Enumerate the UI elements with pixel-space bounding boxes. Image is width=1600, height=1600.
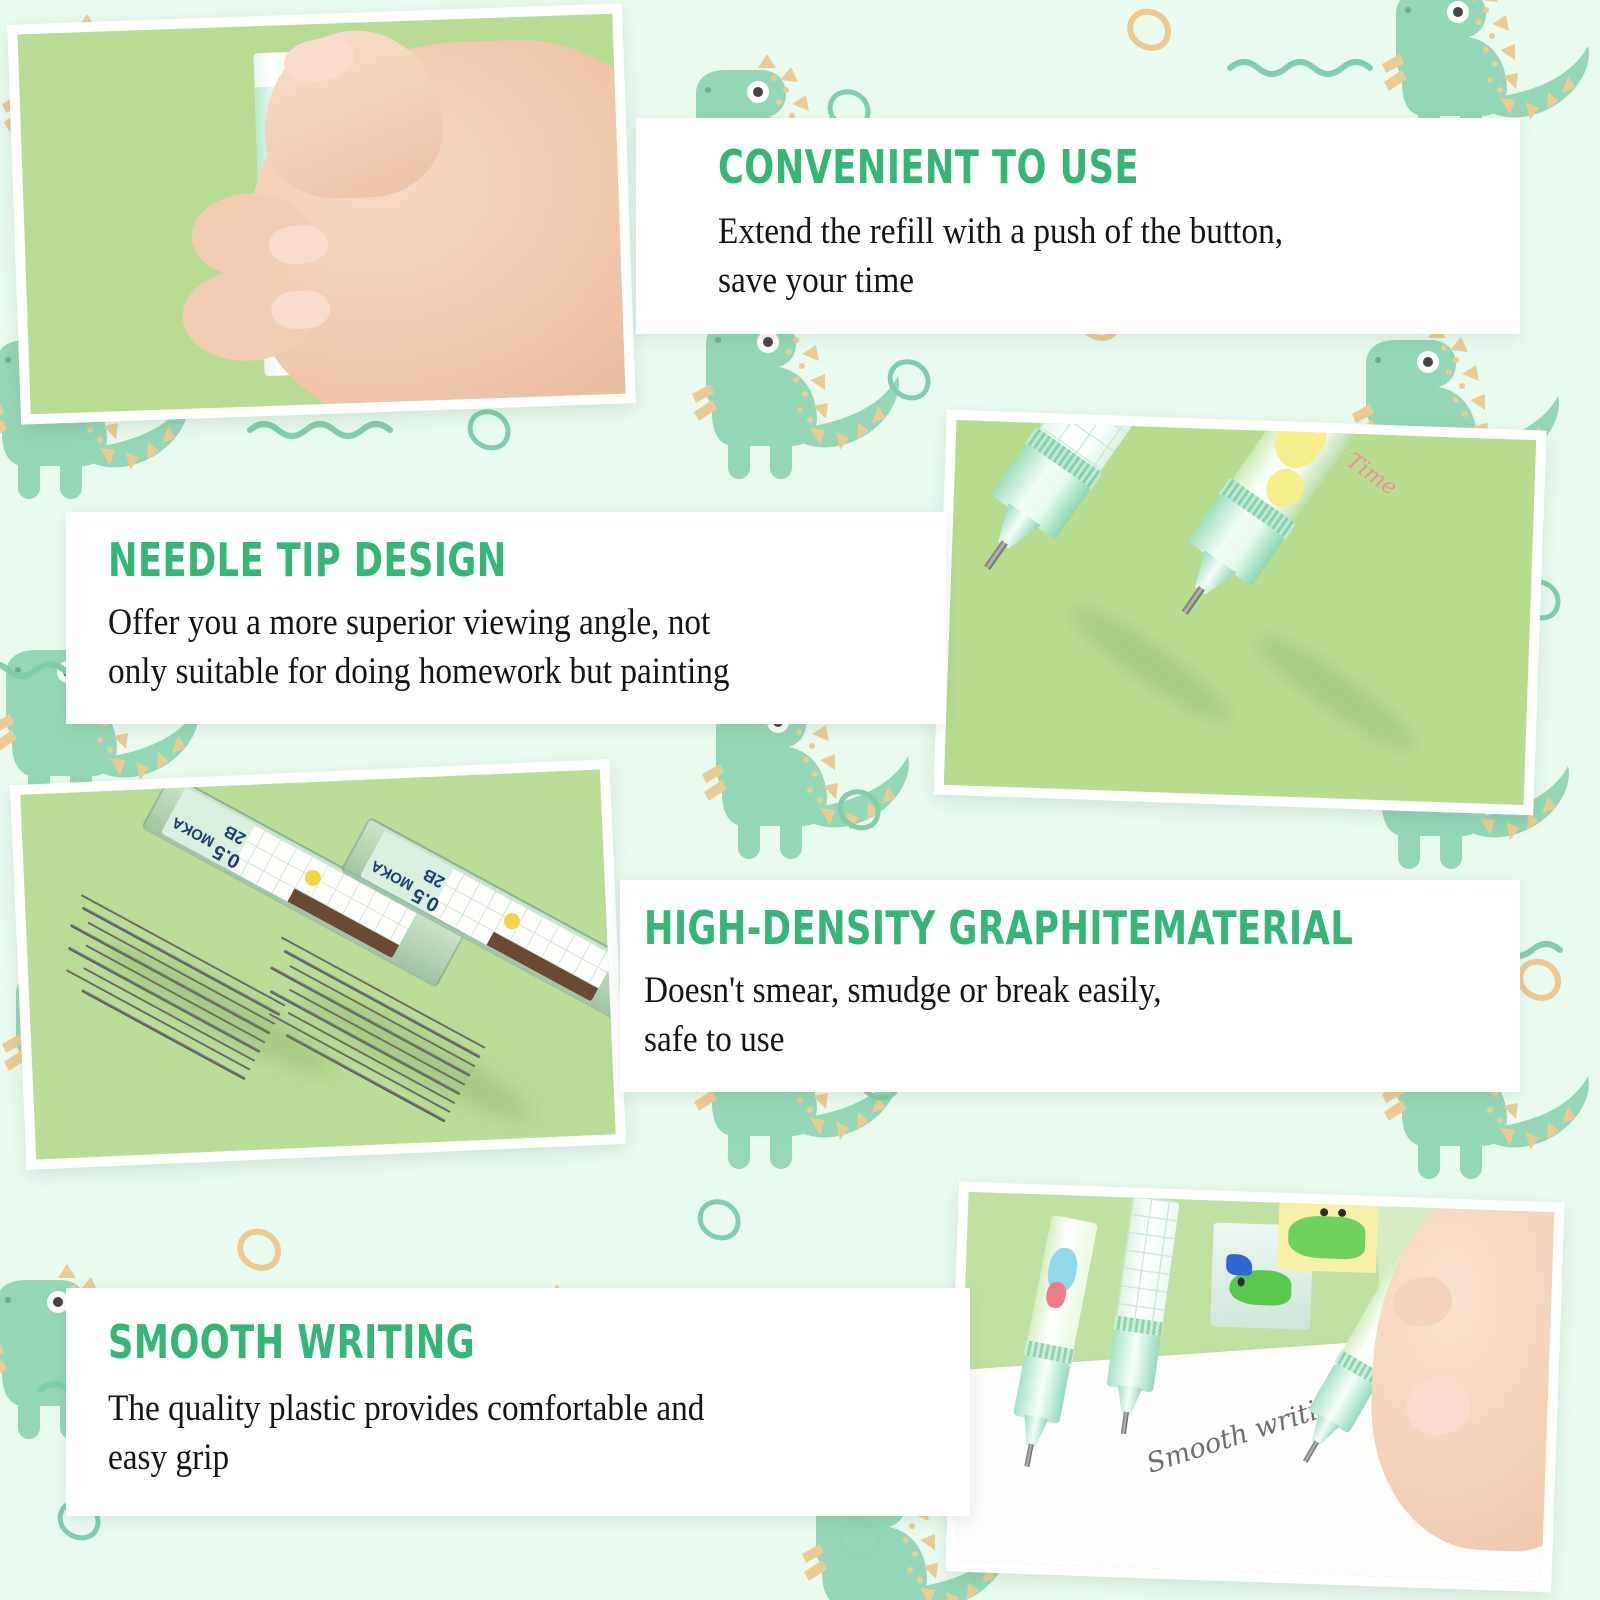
photo-writing-demo: Smooth writing bbox=[956, 1192, 1555, 1582]
photo-card-lead-refills: MOKA 2B 0.5 bbox=[10, 759, 626, 1170]
photo-card-needle-tips: Sweet Time bbox=[933, 410, 1546, 816]
feature-body-line: save your time bbox=[718, 257, 1440, 306]
pencil-clear-barrel bbox=[1106, 1329, 1161, 1392]
feature-body-line: safe to use bbox=[644, 1016, 1432, 1065]
needle-tip bbox=[1121, 1412, 1129, 1434]
barrel-grid-print bbox=[1116, 1196, 1180, 1324]
feature-card-smooth-writing: SMOOTH WRITING The quality plastic provi… bbox=[66, 1288, 970, 1516]
pencil-shadow bbox=[1245, 621, 1427, 764]
feature-heading: CONVENIENT TO USE bbox=[718, 144, 1408, 191]
feature-body-line: The quality plastic provides comfortable… bbox=[108, 1385, 884, 1434]
photo-hand-holding-pencil bbox=[18, 14, 626, 415]
feature-body-line: only suitable for doing homework but pai… bbox=[108, 648, 862, 697]
photo-card-writing-demo: Smooth writing bbox=[945, 1182, 1564, 1593]
eraser-box bbox=[1277, 1192, 1380, 1273]
photo-card-hand-holding-pencil bbox=[7, 3, 636, 424]
feature-card-convenient-to-use: CONVENIENT TO USE Extend the refill with… bbox=[636, 118, 1520, 334]
needle-tip bbox=[984, 540, 1008, 570]
feature-heading: HIGH-DENSITY GRAPHITEMATERIAL bbox=[644, 905, 1397, 952]
needle-tip bbox=[1025, 1444, 1034, 1467]
feature-card-high-density-graphite-material: HIGH-DENSITY GRAPHITEMATERIAL Doesn't sm… bbox=[620, 880, 1520, 1092]
feature-body-line: easy grip bbox=[108, 1434, 884, 1483]
feature-heading: SMOOTH WRITING bbox=[108, 1319, 849, 1366]
pencil-cone bbox=[1019, 1415, 1049, 1449]
needle-tip bbox=[1303, 1441, 1319, 1463]
feature-heading: NEEDLE TIP DESIGN bbox=[108, 537, 829, 584]
feature-body-line: Offer you a more superior viewing angle,… bbox=[108, 599, 862, 648]
needle-tip bbox=[1181, 587, 1204, 616]
box-dino-eye bbox=[1338, 1209, 1346, 1217]
feature-card-needle-tip-design: NEEDLE TIP DESIGN Offer you a more super… bbox=[66, 512, 946, 724]
photo-needle-tips: Sweet Time bbox=[944, 420, 1536, 805]
pencil-sweet-time bbox=[962, 420, 1204, 582]
feature-body-line: Extend the refill with a push of the but… bbox=[718, 208, 1440, 257]
feature-body-line: Doesn't smear, smudge or break easily, bbox=[644, 967, 1432, 1016]
box-dino-graphic bbox=[1287, 1215, 1366, 1260]
eraser-blue-accent bbox=[1226, 1254, 1253, 1276]
photo-lead-refills: MOKA 2B 0.5 bbox=[20, 770, 615, 1160]
